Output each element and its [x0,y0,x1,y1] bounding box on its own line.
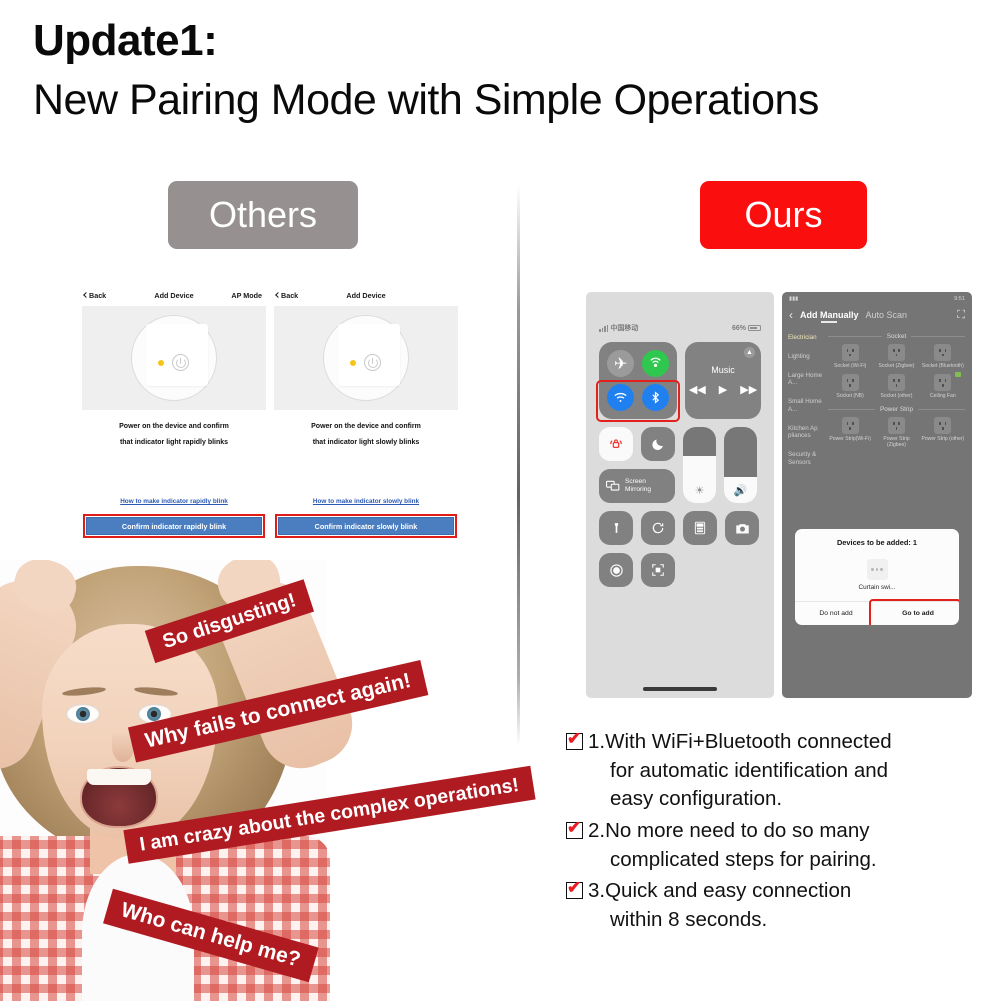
power-icon [172,354,189,371]
music-label: Music [711,365,735,375]
indicator-led-icon [158,360,164,366]
section-header-power-strip: Power Strip [828,406,965,413]
rotation-lock-icon[interactable] [599,427,633,461]
volume-icon: 🔊 [734,484,748,497]
caption-line-2: that indicator light rapidly blinks [78,439,270,446]
device-item[interactable]: Socket (Bluetooth) [921,344,965,369]
do-not-add-button[interactable]: Do not add [795,602,877,625]
device-body [131,315,217,401]
socket-icon [934,374,951,391]
device-item[interactable]: Power Strip (other) [921,417,965,448]
device-grid: Socket Socket (Wi-Fi) Socket (Zigbee) [828,327,972,541]
ap-mode-button[interactable]: AP Mode [231,291,262,300]
carrier-label: 中国移动 [610,323,638,333]
play-icon[interactable]: ▶ [719,383,727,396]
confirm-button-highlight: Confirm indicator rapidly blink [83,514,265,538]
sidebar-item-lighting[interactable]: Lighting [788,353,823,361]
home-indicator [643,687,717,691]
status-bar: 中国移动 66% [586,320,774,336]
wifi-icon[interactable] [607,384,634,411]
bullet-line-3: easy configuration. [588,785,892,814]
socket-icon [888,374,905,391]
device-item[interactable]: Socket (other) [874,374,918,399]
socket-icon [934,344,951,361]
device-illustration [82,306,266,410]
caption-line-1: Power on the device and confirm [270,423,462,430]
list-item: ✔ 2.No more need to do so many complicat… [566,817,996,874]
headline-line-2: New Pairing Mode with Simple Operations [33,73,993,129]
section-title: Socket [887,333,907,340]
camera-icon[interactable] [725,511,759,545]
app-screen-rapid: Back Add Device AP Mode Power on the dev… [78,286,270,576]
socket-icon [888,344,905,361]
app-screen-slow: Back Add Device Power on the device and … [270,286,462,576]
confirm-blink-button[interactable]: Confirm indicator rapidly blink [86,517,262,535]
device-item[interactable]: Socket (Zigbee) [874,344,918,369]
brightness-icon: ☀ [695,484,705,497]
battery-icon [748,325,761,332]
screen-mirroring-button[interactable]: Screen Mirroring [599,469,675,503]
infographic-page: Update1: New Pairing Mode with Simple Op… [0,0,1001,1001]
instruction-caption: Power on the device and confirm that ind… [270,423,462,446]
ours-phone-screens: 中国移动 66% ✈ [586,292,976,698]
device-catalog: Electrician Lighting Large Home A... Sma… [782,327,972,541]
brightness-slider[interactable]: ☀ [683,427,716,503]
device-item[interactable]: Socket (NB) [828,374,872,399]
tab-auto-scan[interactable]: Auto Scan [866,310,908,320]
flashlight-icon[interactable] [599,511,633,545]
device-name: Curtain swi... [859,584,896,591]
do-not-disturb-icon[interactable] [641,427,675,461]
device-label: Power Strip (Zigbee) [874,436,918,448]
benefits-list: ✔ 1.With WiFi+Bluetooth connected for au… [566,728,996,938]
sidebar-item-kitchen-appliances[interactable]: Kitchen Ap pliances [788,425,823,441]
bullet-line-2: within 8 seconds. [588,906,851,935]
app-nav-bar: Back Add Device [270,286,462,304]
device-illustration [274,306,458,410]
badge-ours: Ours [700,181,867,249]
volume-slider[interactable]: 🔊 [724,427,757,503]
airplane-mode-icon[interactable]: ✈ [607,350,634,377]
qr-scanner-icon[interactable] [641,553,675,587]
section-title: Power Strip [880,406,913,413]
device-label: Socket (Zigbee) [879,363,915,369]
badge-others: Others [168,181,358,249]
bluetooth-icon[interactable] [642,384,669,411]
status-bar: ▮▮▮9:51 [782,292,972,302]
headline-line-1: Update1: [33,16,993,67]
sidebar-item-small-home-appliances[interactable]: Small Home A... [788,398,823,414]
sidebar-item-large-home-appliances[interactable]: Large Home A... [788,372,823,388]
help-link[interactable]: How to make indicator slowly blink [313,498,419,505]
bullet-line-2: complicated steps for pairing. [588,846,877,875]
bullet-line-1: 2.No more need to do so many [588,819,869,842]
caption-line-1: Power on the device and confirm [78,423,270,430]
device-label: Power Strip (other) [921,436,964,442]
dialog-actions: Do not add Go to add [795,601,959,625]
screen-record-icon[interactable] [599,553,633,587]
screen-title: Add Device [270,291,462,300]
signal-bars-icon [599,325,608,332]
page-title: Update1: New Pairing Mode with Simple Op… [33,16,993,128]
socket-icon [842,344,859,361]
bullet-line-1: 3.Quick and easy connection [588,879,851,902]
device-label: Socket (Bluetooth) [922,363,964,369]
mirroring-line-1: Screen [625,478,646,485]
curtain-switch-icon [867,559,888,580]
checkbox-checked-icon: ✔ [566,882,583,899]
power-icon [364,354,381,371]
device-item[interactable]: Power Strip (Zigbee) [874,417,918,448]
checkbox-checked-icon: ✔ [566,822,583,839]
list-item: ✔ 1.With WiFi+Bluetooth connected for au… [566,728,996,814]
instruction-caption: Power on the device and confirm that ind… [78,423,270,446]
app-nav-bar: ‹ Add Manually Auto Scan ⛶ [782,302,972,327]
go-to-add-button[interactable]: Go to add [877,602,959,625]
power-strip-icon [888,417,905,434]
device-label: Ceiling Fan [930,393,956,399]
device-body [323,315,409,401]
found-device: Curtain swi... [795,547,959,601]
section-divider [517,186,520,746]
battery-percent: 66% [732,325,746,332]
new-badge-icon [955,372,961,377]
checkbox-checked-icon: ✔ [566,733,583,750]
device-label: Power Strip(Wi-Fi) [829,436,871,442]
others-app-screens: Back Add Device AP Mode Power on the dev… [78,286,493,576]
airplay-icon[interactable]: ▲ [744,347,755,358]
sidebar-item-electrician[interactable]: Electrician [788,334,823,342]
device-label: Socket (Wi-Fi) [834,363,866,369]
power-strip-icon [842,417,859,434]
confirm-button-highlight: Confirm indicator slowly blink [275,514,457,538]
calculator-icon[interactable] [683,511,717,545]
list-item: ✔ 3.Quick and easy connection within 8 s… [566,877,996,934]
indicator-led-icon [350,360,356,366]
add-device-app: ▮▮▮9:51 ‹ Add Manually Auto Scan ⛶ Elect… [782,292,972,698]
help-link-row: How to make indicator slowly blink [270,490,462,508]
sidebar-item-security-sensors[interactable]: Security & Sensors [788,451,823,467]
confirm-blink-button[interactable]: Confirm indicator slowly blink [278,517,454,535]
next-track-icon[interactable]: ▶▶ [740,383,757,396]
device-label: Socket (NB) [836,393,863,399]
cellular-data-icon[interactable] [642,350,669,377]
tab-add-manually[interactable]: Add Manually [800,310,859,320]
bullet-line-1: 1.With WiFi+Bluetooth connected [588,730,892,753]
section-header-socket: Socket [828,333,965,340]
control-center-grid: ✈ ▲ Music [586,336,774,587]
devices-to-add-dialog: Devices to be added: 1 Curtain swi... Do… [795,529,959,625]
dialog-title: Devices to be added: 1 [795,529,959,547]
ios-control-center: 中国移动 66% ✈ [586,292,774,698]
device-item[interactable]: Ceiling Fan [921,374,965,399]
back-icon[interactable]: ‹ [789,308,793,322]
previous-track-icon[interactable]: ◀◀ [689,383,706,396]
mirroring-line-2: Mirroring [625,486,651,493]
help-link-row: How to make indicator rapidly blink [78,490,270,508]
power-strip-icon [934,417,951,434]
socket-icon [842,374,859,391]
caption-line-2: that indicator light slowly blinks [270,439,462,446]
category-sidebar: Electrician Lighting Large Home A... Sma… [782,327,828,541]
app-nav-bar: Back Add Device AP Mode [78,286,270,304]
scan-qr-icon[interactable]: ⛶ [957,309,965,322]
device-item[interactable]: Power Strip(Wi-Fi) [828,417,872,448]
music-widget[interactable]: ▲ Music ◀◀ ▶ ▶▶ [685,342,761,419]
device-label: Socket (other) [880,393,912,399]
timer-icon[interactable] [641,511,675,545]
device-item[interactable]: Socket (Wi-Fi) [828,344,872,369]
connectivity-module: ✈ [599,342,677,419]
bullet-line-2: for automatic identification and [588,757,892,786]
help-link[interactable]: How to make indicator rapidly blink [120,498,228,505]
